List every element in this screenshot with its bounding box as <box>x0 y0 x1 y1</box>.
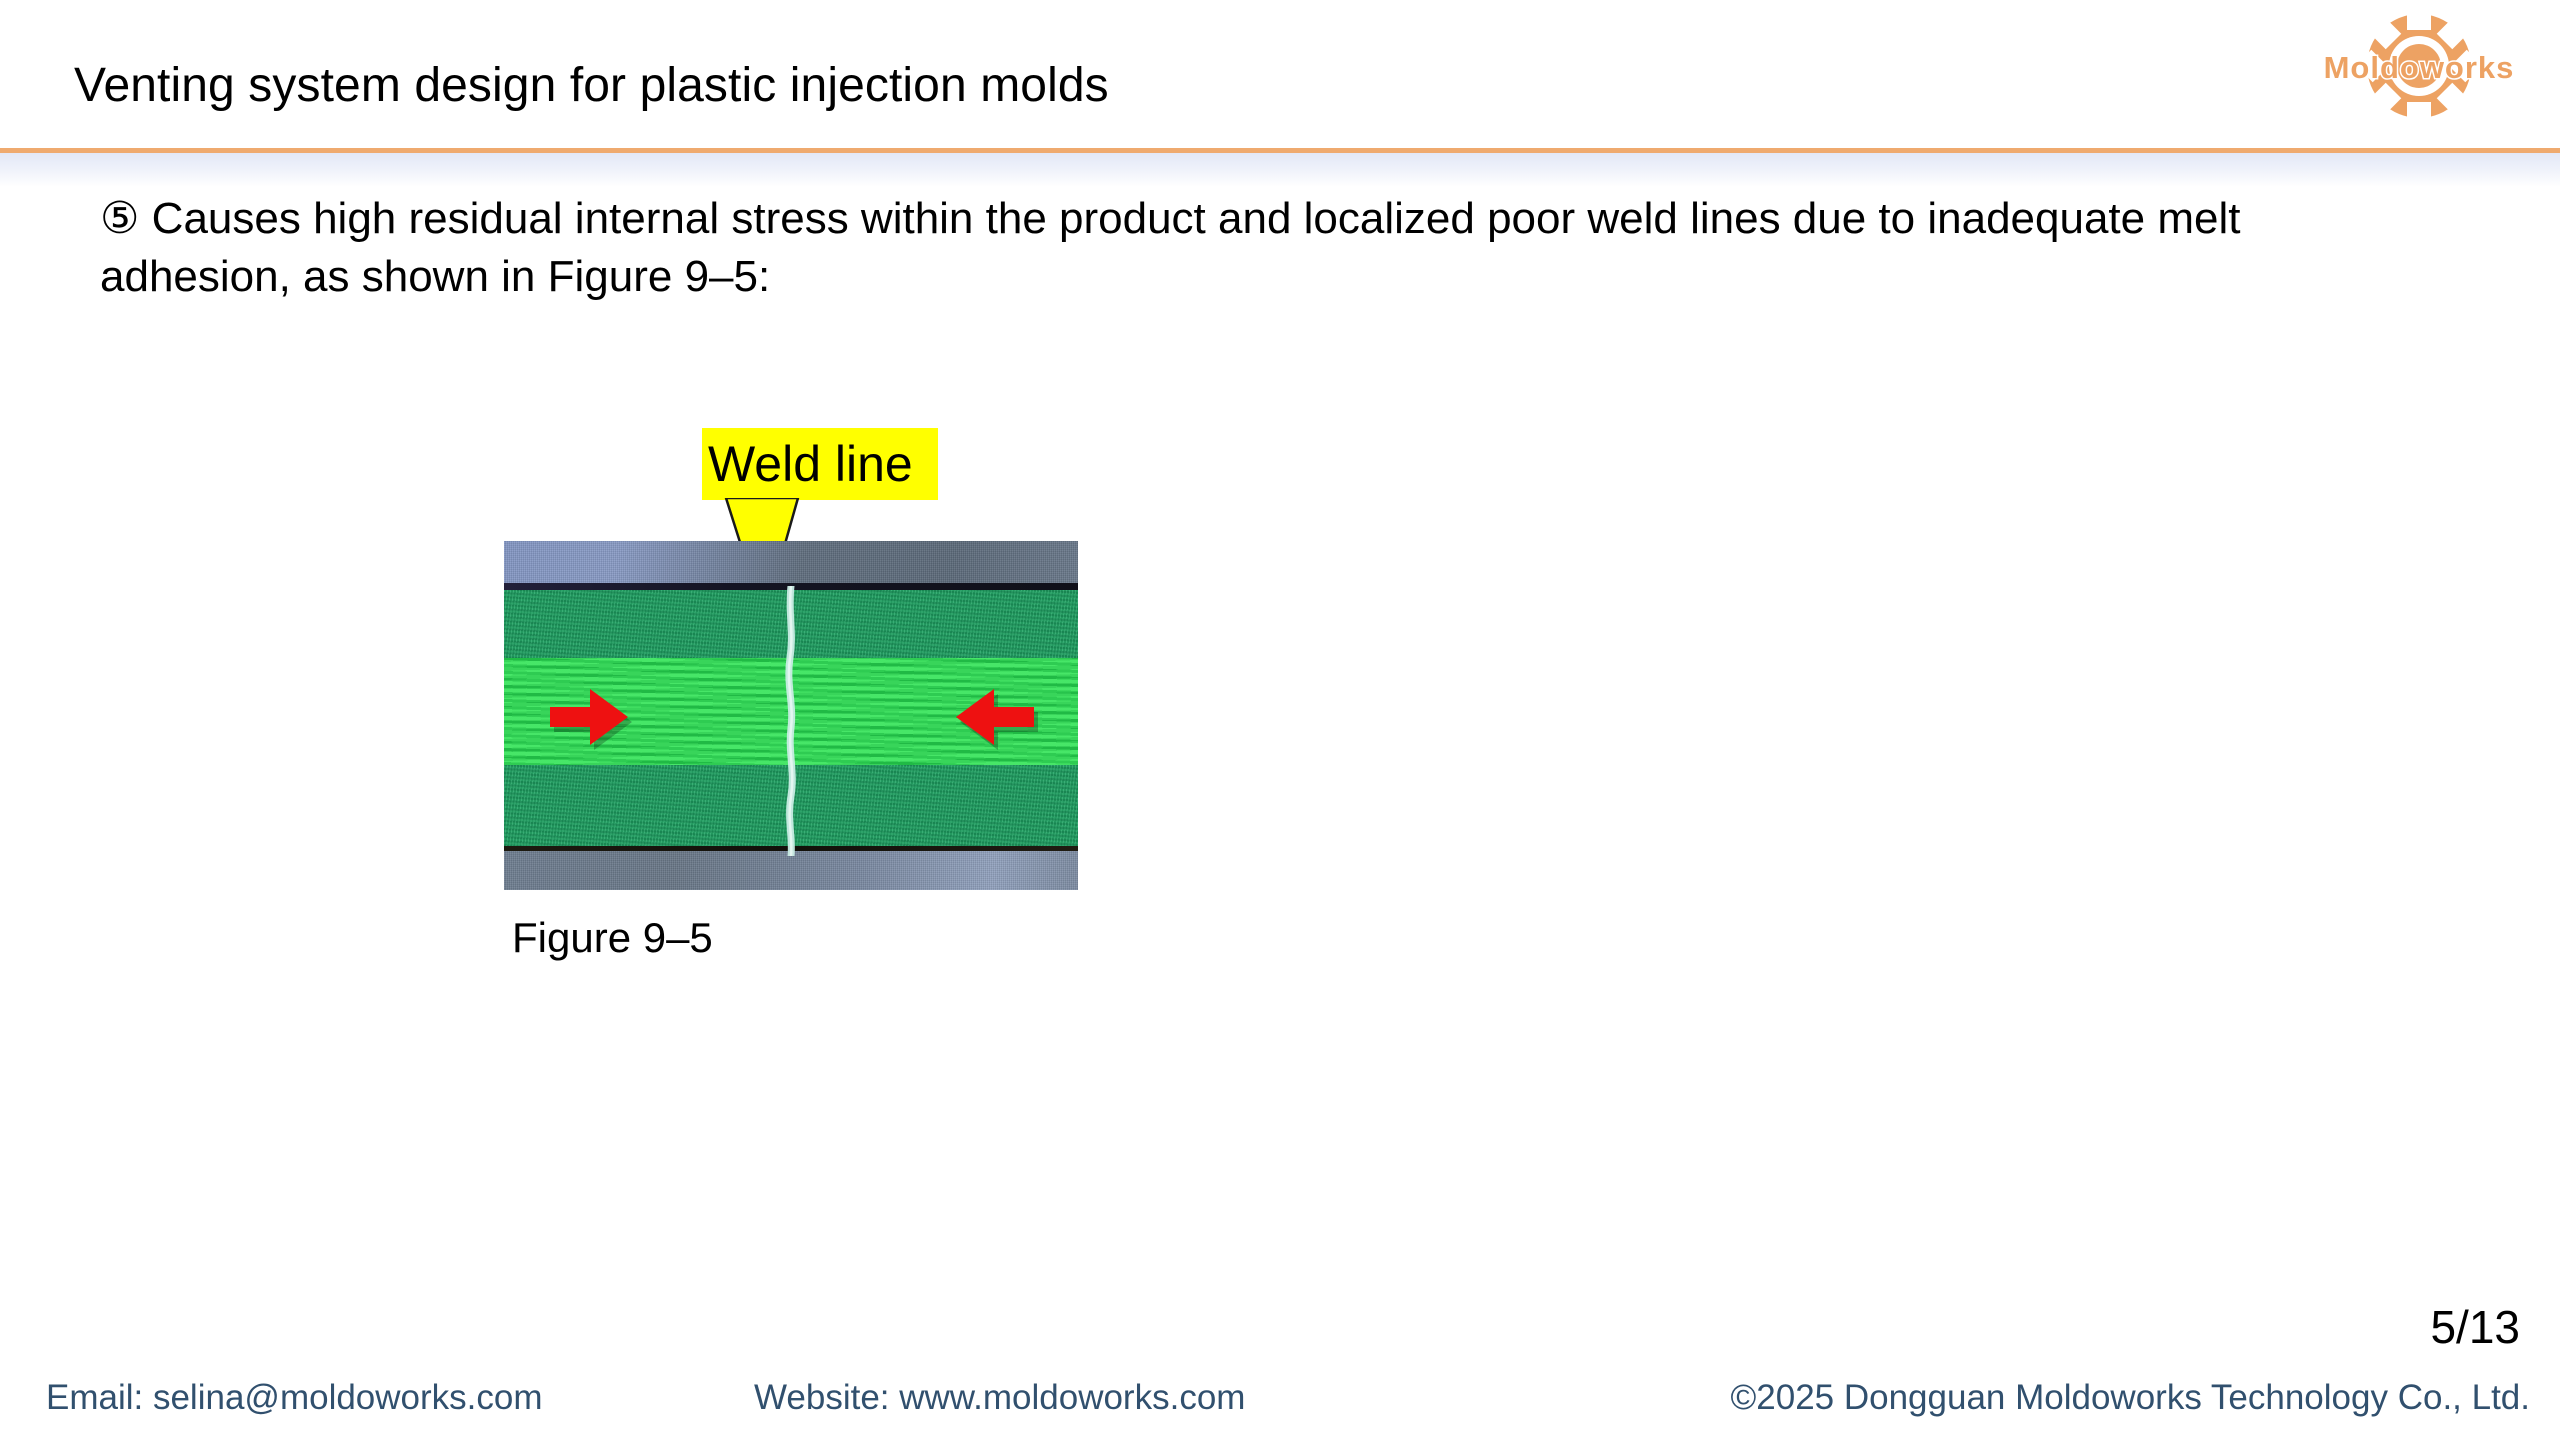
weld-line-callout: Weld line <box>702 428 938 500</box>
slide-footer: Email: selina@moldoworks.com Website: ww… <box>0 1378 2560 1428</box>
flow-arrow-right-icon <box>550 689 632 759</box>
page-title: Venting system design for plastic inject… <box>74 58 1109 113</box>
header-gradient-band <box>0 153 2560 187</box>
page-number: 5/13 <box>2430 1300 2520 1354</box>
moldoworks-logo: Moldoworks <box>2294 6 2544 140</box>
footer-copyright: ©2025 Dongguan Moldoworks Technology Co.… <box>1730 1378 2530 1418</box>
metal-grain-overlay <box>504 541 1078 583</box>
footer-website: Website: www.moldoworks.com <box>754 1378 1245 1418</box>
metal-grain-overlay-2 <box>504 851 1078 890</box>
logo-wordmark: Moldoworks <box>2324 50 2515 85</box>
body-paragraph: ⑤ Causes high residual internal stress w… <box>100 190 2420 306</box>
layer-mold-plate-bottom <box>504 851 1078 890</box>
layer-mold-plate-top <box>504 541 1078 583</box>
cross-section-illustration <box>504 541 1078 890</box>
footer-email: Email: selina@moldoworks.com <box>46 1378 543 1418</box>
flow-arrow-left-icon <box>956 689 1038 759</box>
figure-caption: Figure 9–5 <box>512 914 713 962</box>
slide-canvas: Venting system design for plastic inject… <box>0 0 2560 1440</box>
weld-line-callout-label: Weld line <box>708 439 913 489</box>
figure-9-5: Weld line <box>504 420 1124 980</box>
